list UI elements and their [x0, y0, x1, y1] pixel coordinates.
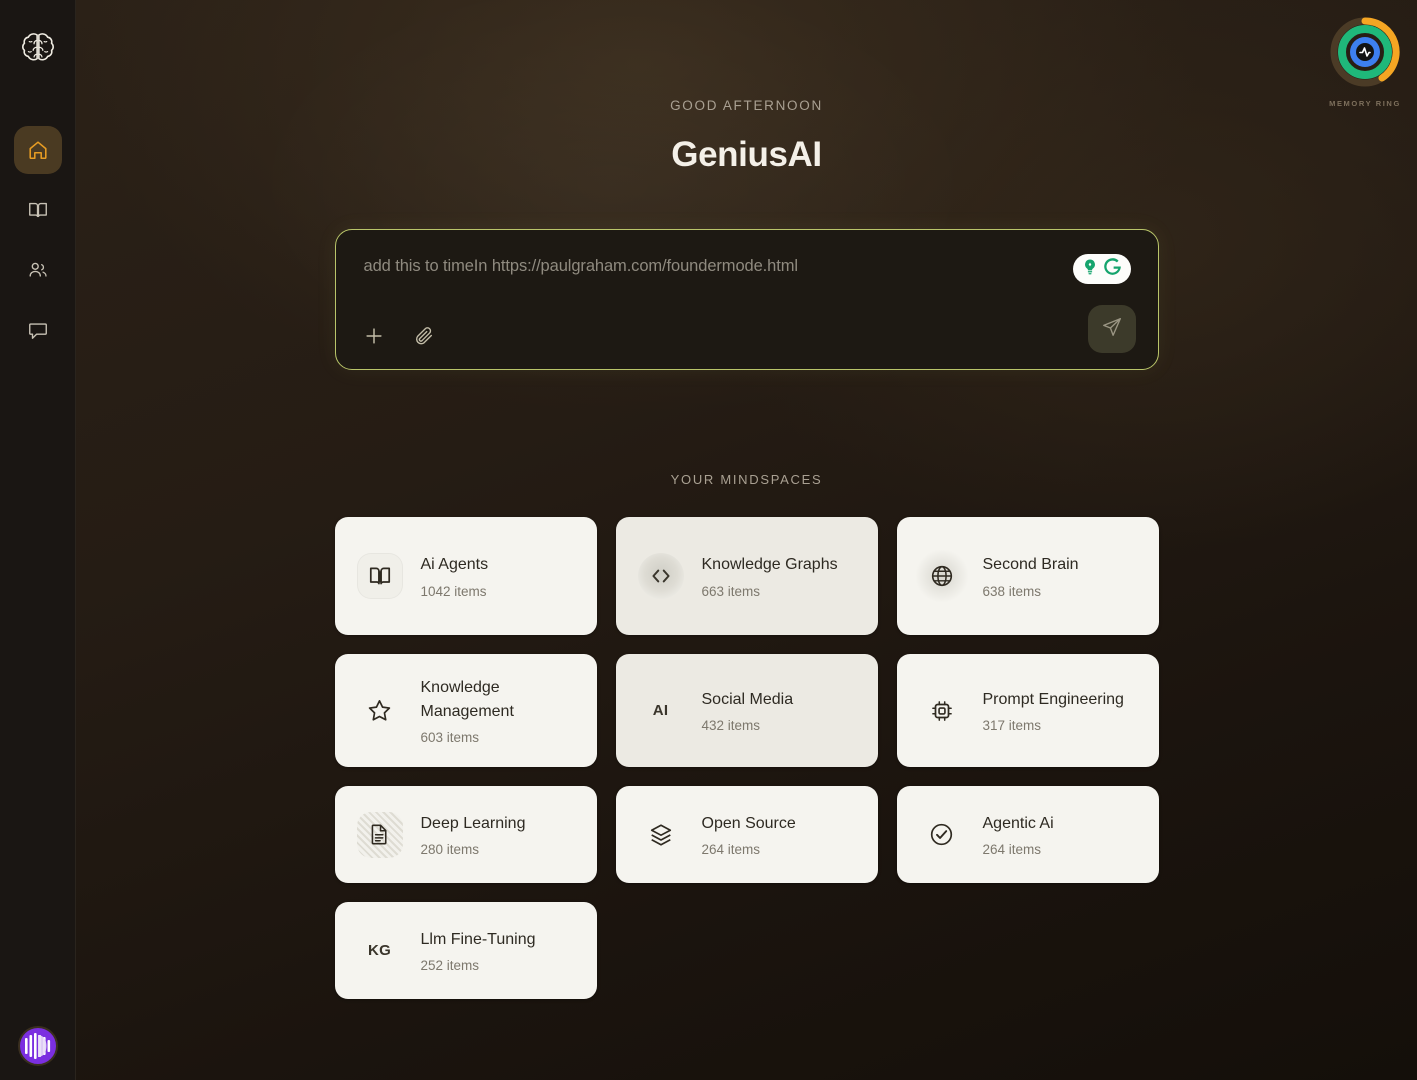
mindspace-card[interactable]: Deep Learning280 items [335, 786, 597, 883]
greeting-section: GOOD AFTERNOON GeniusAI [76, 0, 1417, 175]
mindspace-card-body: Llm Fine-Tuning252 items [421, 928, 536, 973]
mindspace-card-title: Agentic Ai [983, 812, 1054, 835]
mindspace-card-count: 317 items [983, 718, 1124, 733]
mindspace-card-body: Prompt Engineering317 items [983, 688, 1124, 733]
sidebar [0, 0, 76, 1080]
avatar[interactable] [18, 1026, 58, 1066]
document-icon [357, 812, 403, 858]
home-icon [27, 139, 49, 161]
greeting-text: GOOD AFTERNOON [76, 98, 1417, 113]
mindspace-card-title: Knowledge Management [421, 676, 575, 722]
sidebar-item-library[interactable] [14, 186, 62, 234]
mindspace-card-count: 638 items [983, 584, 1079, 599]
sidebar-item-chat[interactable] [14, 306, 62, 354]
mindspace-card-title: Social Media [702, 688, 794, 711]
mindspace-card-count: 663 items [702, 584, 838, 599]
mindspace-card-title: Deep Learning [421, 812, 526, 835]
composer-section: add this to timeIn https://paulgraham.co… [76, 229, 1417, 370]
mindspace-card-count: 264 items [702, 842, 796, 857]
chip-icon [919, 688, 965, 734]
sidebar-item-home[interactable] [14, 126, 62, 174]
mindspace-card[interactable]: Ai Agents1042 items [335, 517, 597, 635]
mindspace-card[interactable]: Knowledge Graphs663 items [616, 517, 878, 635]
page-title: GeniusAI [76, 135, 1417, 175]
plus-icon[interactable] [363, 325, 385, 347]
mindspace-card-title: Llm Fine-Tuning [421, 928, 536, 951]
composer-box[interactable]: add this to timeIn https://paulgraham.co… [335, 229, 1159, 370]
mindspaces-section: YOUR MINDSPACES Ai Agents1042 itemsKnowl… [76, 472, 1417, 999]
lightbulb-icon [1080, 257, 1100, 282]
composer-input[interactable]: add this to timeIn https://paulgraham.co… [364, 257, 798, 276]
mindspace-card-title: Ai Agents [421, 553, 489, 576]
mindspace-card-count: 1042 items [421, 584, 489, 599]
mindspace-card-body: Knowledge Graphs663 items [702, 553, 838, 598]
mindspace-card-title: Knowledge Graphs [702, 553, 838, 576]
ai-text-icon: AI [638, 688, 684, 734]
memory-ring-label: MEMORY RING [1329, 99, 1401, 108]
book-icon [27, 199, 49, 221]
memory-ring-logo[interactable]: MEMORY RING [1329, 16, 1401, 108]
mindspace-card-body: Agentic Ai264 items [983, 812, 1054, 857]
send-icon [1101, 316, 1123, 343]
book-open-icon [357, 553, 403, 599]
layers-icon [638, 812, 684, 858]
sidebar-item-people[interactable] [14, 246, 62, 294]
app-root: MEMORY RING GOOD AFTERNOON GeniusAI add … [0, 0, 1417, 1080]
memory-ring-icon [1329, 16, 1401, 93]
mindspace-card-body: Ai Agents1042 items [421, 553, 489, 598]
mindspaces-grid: Ai Agents1042 itemsKnowledge Graphs663 i… [335, 517, 1159, 999]
mindspace-card-count: 432 items [702, 718, 794, 733]
mindspaces-label: YOUR MINDSPACES [76, 472, 1417, 487]
mindspace-card-body: Knowledge Management603 items [421, 676, 575, 744]
check-circle-icon [919, 812, 965, 858]
mindspace-card[interactable]: Second Brain638 items [897, 517, 1159, 635]
code-brackets-icon [638, 553, 684, 599]
sidebar-nav [14, 126, 62, 354]
mindspace-card-body: Social Media432 items [702, 688, 794, 733]
paperclip-icon[interactable] [413, 325, 435, 347]
brain-logo-icon[interactable] [15, 26, 61, 72]
mindspace-card-title: Second Brain [983, 553, 1079, 576]
message-icon [27, 319, 49, 341]
composer-toolbar [363, 325, 435, 347]
mindspace-card[interactable]: AISocial Media432 items [616, 654, 878, 767]
grammarly-g-icon [1102, 256, 1123, 282]
grammarly-badge[interactable] [1073, 254, 1131, 284]
mindspace-card-count: 264 items [983, 842, 1054, 857]
mindspace-card-count: 280 items [421, 842, 526, 857]
mindspace-card[interactable]: Agentic Ai264 items [897, 786, 1159, 883]
mindspace-card-count: 252 items [421, 958, 536, 973]
globe-icon [919, 553, 965, 599]
mindspace-card[interactable]: Knowledge Management603 items [335, 654, 597, 767]
star-icon [357, 688, 403, 734]
mindspace-card[interactable]: Prompt Engineering317 items [897, 654, 1159, 767]
users-icon [27, 259, 49, 281]
mindspace-card-body: Open Source264 items [702, 812, 796, 857]
main-content: MEMORY RING GOOD AFTERNOON GeniusAI add … [76, 0, 1417, 1080]
mindspace-card-body: Deep Learning280 items [421, 812, 526, 857]
mindspace-card-title: Prompt Engineering [983, 688, 1124, 711]
kg-text-icon: KG [357, 928, 403, 974]
mindspace-card[interactable]: KGLlm Fine-Tuning252 items [335, 902, 597, 999]
mindspace-card-body: Second Brain638 items [983, 553, 1079, 598]
mindspace-card-title: Open Source [702, 812, 796, 835]
mindspace-card-count: 603 items [421, 730, 575, 745]
send-button[interactable] [1088, 305, 1136, 353]
mindspace-card[interactable]: Open Source264 items [616, 786, 878, 883]
